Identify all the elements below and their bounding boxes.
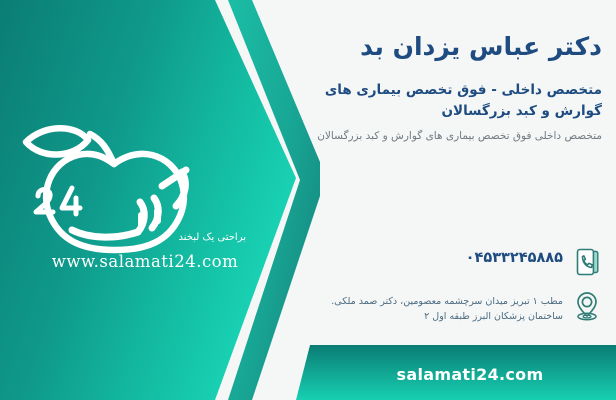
- phone-number[interactable]: ۰۴۵۳۳۲۴۵۸۸۵: [302, 250, 563, 266]
- phone-book-icon: [572, 245, 602, 279]
- location-pin-icon: [572, 289, 602, 323]
- doctor-specialty-sub: متخصص داخلی فوق تخصص بیماری های گوارش و …: [296, 128, 602, 144]
- doctor-info-panel: دکتر عباس یزدان بد متخصص داخلی - فوق تخص…: [296, 0, 616, 400]
- footer-website[interactable]: salamati24.com: [296, 345, 616, 400]
- contact-list: ۰۴۵۳۳۲۴۵۸۸۵ مطب ۱ تبریز میدان سرچشمه معص…: [302, 245, 602, 334]
- page-title: دکتر عباس یزدان بد: [296, 30, 602, 64]
- teal-chevron-artwork: [0, 0, 320, 400]
- doctor-specialty: متخصص داخلی - فوق تخصص بیماری های گوارش …: [296, 80, 602, 123]
- contact-row-phone[interactable]: ۰۴۵۳۳۲۴۵۸۸۵: [302, 245, 602, 279]
- contact-row-address[interactable]: مطب ۱ تبریز میدان سرچشمه معصومین، دکتر ص…: [302, 289, 602, 324]
- business-card: براحتی یک لبخند www.salamati24.com دکتر …: [0, 0, 616, 400]
- clinic-address[interactable]: مطب ۱ تبریز میدان سرچشمه معصومین، دکتر ص…: [302, 294, 563, 324]
- footer-bar: salamati24.com: [296, 345, 616, 400]
